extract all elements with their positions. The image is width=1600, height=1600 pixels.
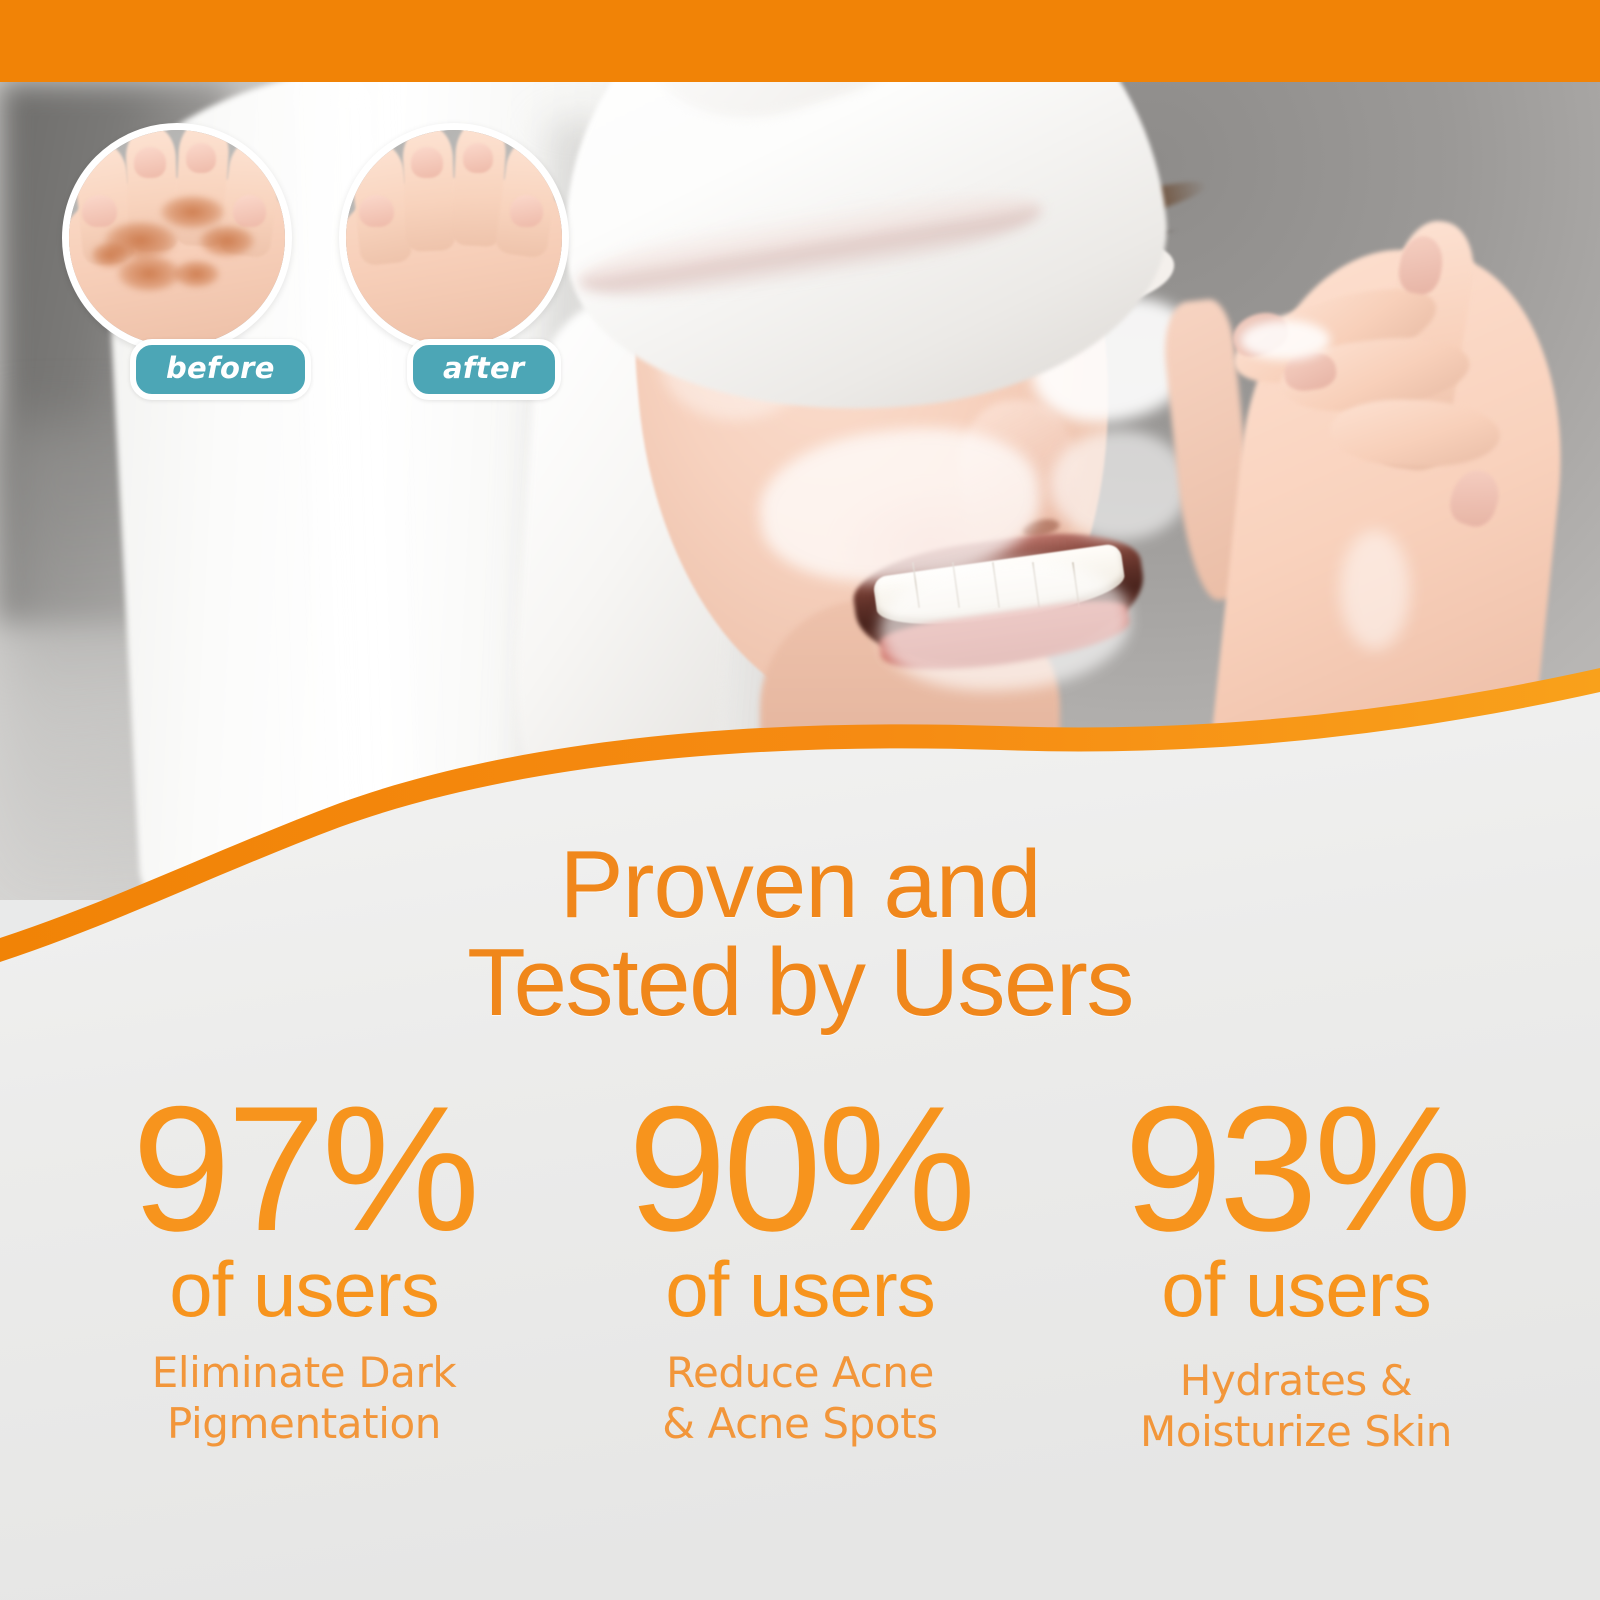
fingernail xyxy=(233,195,265,227)
infographic-stage: before after xyxy=(0,0,1600,1600)
stat-description: Hydrates & Moisturize Skin xyxy=(1048,1355,1544,1457)
after-badge: after xyxy=(407,339,561,400)
fingernail xyxy=(134,147,166,177)
stat-description-line-1: Reduce Acne xyxy=(666,1348,934,1397)
cleanser-foam xyxy=(1050,430,1190,540)
after-photo xyxy=(346,130,562,346)
before-image xyxy=(62,123,292,353)
before-badge: before xyxy=(130,339,311,400)
fingernail xyxy=(359,195,394,227)
page-title: Proven and Tested by Users xyxy=(0,836,1600,1032)
pigmentation-spot xyxy=(199,225,255,257)
before-photo xyxy=(69,130,285,346)
stat-of-users: of users xyxy=(1048,1249,1544,1331)
stat-of-users: of users xyxy=(552,1249,1048,1331)
fingernail xyxy=(82,195,117,227)
after-image xyxy=(339,123,569,353)
headline-line-2: Tested by Users xyxy=(0,934,1600,1032)
pigmentation-spot xyxy=(173,260,221,288)
fingernail xyxy=(463,143,493,173)
stat-description: Eliminate Dark Pigmentation xyxy=(56,1347,552,1449)
fingernail xyxy=(186,143,216,173)
stat-description-line-1: Hydrates & xyxy=(1180,1356,1412,1405)
stat-card-acne: 90% of users Reduce Acne & Acne Spots xyxy=(552,1084,1048,1457)
finger xyxy=(402,125,456,252)
stat-card-dark-pigmentation: 97% of users Eliminate Dark Pigmentation xyxy=(56,1084,552,1457)
stat-card-hydration: 93% of users Hydrates & Moisturize Skin xyxy=(1048,1084,1544,1457)
fingernail xyxy=(510,195,542,227)
fingernail xyxy=(411,147,443,177)
headline-line-1: Proven and xyxy=(0,836,1600,934)
stat-of-users: of users xyxy=(56,1249,552,1331)
stat-percent: 93% xyxy=(1048,1084,1544,1255)
stat-description: Reduce Acne & Acne Spots xyxy=(552,1347,1048,1449)
stats-row: 97% of users Eliminate Dark Pigmentation… xyxy=(0,1084,1600,1457)
stat-percent: 97% xyxy=(56,1084,552,1255)
hand-foam xyxy=(1240,320,1330,360)
stat-description-line-2: Pigmentation xyxy=(56,1398,552,1449)
stat-percent: 90% xyxy=(552,1084,1048,1255)
stat-description-line-2: Moisturize Skin xyxy=(1048,1406,1544,1457)
stat-description-line-2: & Acne Spots xyxy=(552,1398,1048,1449)
hand-foam xyxy=(1340,530,1410,650)
top-orange-bar xyxy=(0,0,1600,82)
stats-panel: Proven and Tested by Users 97% of users … xyxy=(0,820,1600,1600)
stat-description-line-1: Eliminate Dark xyxy=(152,1348,457,1397)
pigmentation-spot xyxy=(160,195,225,230)
